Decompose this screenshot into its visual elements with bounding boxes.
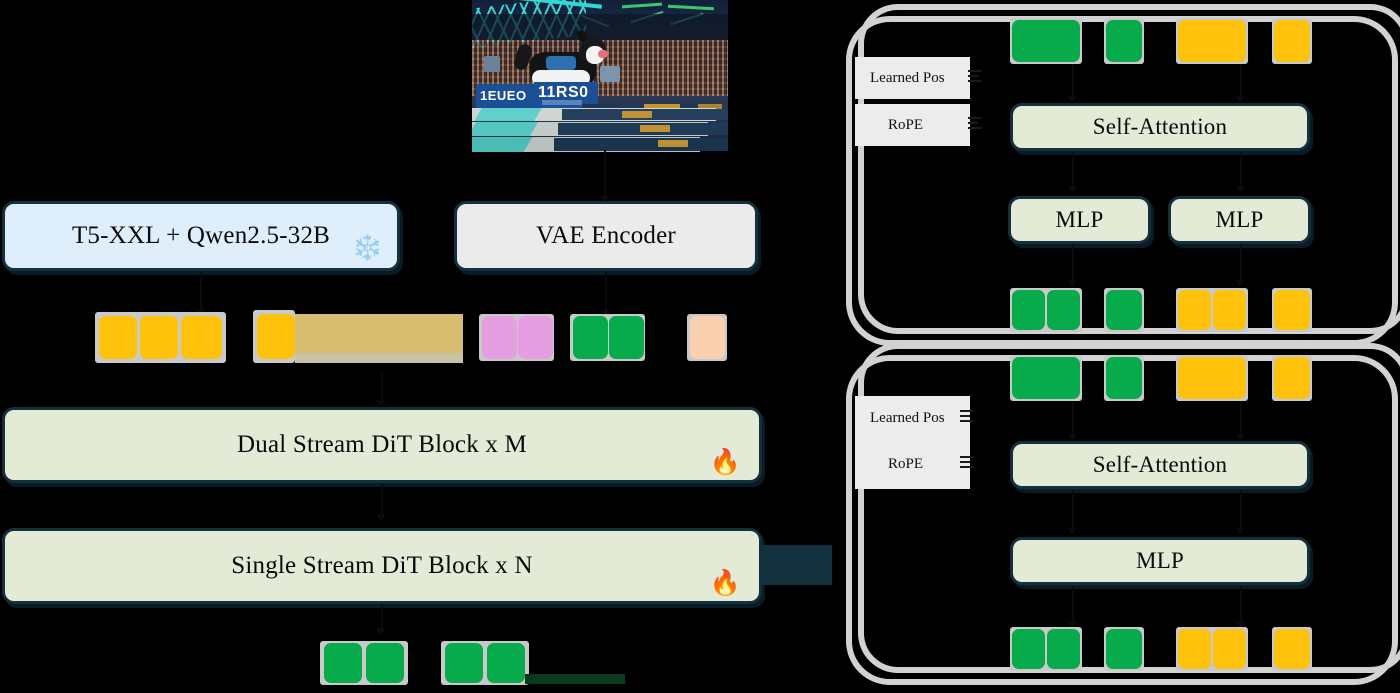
detail1-output-token-yellow-3[interactable] xyxy=(1274,290,1310,330)
single-stream-dit-label: Single Stream DiT Block x N xyxy=(231,552,532,580)
detail2-mlp-box[interactable]: MLP xyxy=(1010,537,1310,585)
detail2-connector-sa-to-mlp-right xyxy=(1240,490,1242,530)
detail1-output-token-green-2[interactable] xyxy=(1047,290,1080,330)
detail2-output-token-yellow-1[interactable] xyxy=(1178,629,1211,669)
detail2-output-token-yellow-2[interactable] xyxy=(1213,629,1246,669)
detail2-arrow-in-left xyxy=(1067,434,1077,441)
token-video-latent-1[interactable] xyxy=(573,316,608,359)
detail2-input-token-green-single[interactable] xyxy=(1106,357,1142,399)
detail1-output-token-green-3[interactable] xyxy=(1106,290,1142,330)
detail1-output-token-green-1[interactable] xyxy=(1012,290,1045,330)
detail1-self-attention-label: Self-Attention xyxy=(1093,114,1227,140)
detail1-connector-sa-to-mlp-right xyxy=(1240,152,1242,188)
rope-tick-icon xyxy=(968,117,982,132)
detail2-self-attention-label: Self-Attention xyxy=(1093,452,1227,478)
detail1-input-token-yellow-pair[interactable] xyxy=(1178,20,1246,62)
rope-label-2: RoPE xyxy=(888,456,923,473)
output-token-3[interactable] xyxy=(445,643,483,683)
detail2-connector-in-left xyxy=(1072,401,1074,437)
token-noise[interactable] xyxy=(690,316,725,359)
output-token-1[interactable] xyxy=(324,643,362,683)
dual-stream-dit-block[interactable]: Dual Stream DiT Block x M 🔥 xyxy=(2,407,762,483)
detail1-arrow-mlp-out-left xyxy=(1067,280,1077,287)
output-token-tail xyxy=(525,674,625,684)
detail1-connector-in-right xyxy=(1240,64,1242,100)
arrow-dual-to-single xyxy=(376,514,386,521)
connector-video-to-vae xyxy=(604,150,606,200)
detail1-mlp-left-box[interactable]: MLP xyxy=(1008,196,1151,244)
detail2-arrow-in-right xyxy=(1235,434,1245,441)
detail2-connector-mlp-out-left xyxy=(1072,586,1074,624)
detail2-mlp-label: MLP xyxy=(1136,548,1184,574)
detail2-arrow-sa-to-mlp-left xyxy=(1067,528,1077,535)
detail2-arrow-sa-to-mlp-right xyxy=(1235,528,1245,535)
arrow-tokens-to-dual xyxy=(376,400,386,407)
detail1-output-token-yellow-1[interactable] xyxy=(1178,290,1211,330)
output-latent-tokens xyxy=(0,610,780,693)
detail2-self-attention-box[interactable]: Self-Attention xyxy=(1010,441,1310,489)
video-frame-stack xyxy=(472,108,728,154)
token-reference-2[interactable] xyxy=(518,316,553,359)
detail1-mlp-right-label: MLP xyxy=(1216,207,1264,233)
detail2-connector-in-right xyxy=(1240,401,1242,437)
detail1-output-token-yellow-2[interactable] xyxy=(1213,290,1246,330)
figure-canvas: 1EUEO 11RS0 T5-XXL + Qwen2.5-32B ❄️ xyxy=(0,0,1400,693)
detail2-connector-sa-to-mlp-left xyxy=(1072,490,1074,530)
token-padding-bar-shadow xyxy=(295,353,463,363)
video-overlay-left-text: 1EUEO xyxy=(480,88,540,103)
snowflake-icon: ❄️ xyxy=(352,235,383,260)
detail1-input-token-green-pair[interactable] xyxy=(1012,20,1080,62)
vae-encoder-label: VAE Encoder xyxy=(536,222,676,250)
token-padding-bar[interactable] xyxy=(295,314,463,353)
learned-pos-tick-icon xyxy=(968,70,982,85)
detail2-output-token-yellow-3[interactable] xyxy=(1274,629,1310,669)
detail1-connector-in-left xyxy=(1072,64,1074,100)
token-video-latent-2[interactable] xyxy=(609,316,644,359)
detail2-output-token-green-2[interactable] xyxy=(1047,629,1080,669)
detail2-output-token-green-1[interactable] xyxy=(1012,629,1045,669)
token-text-pad[interactable] xyxy=(257,314,295,359)
fire-icon: 🔥 xyxy=(710,570,741,595)
learned-pos-label: Learned Pos xyxy=(870,70,945,87)
connector-single-stream-to-detail xyxy=(762,545,832,585)
detail1-self-attention-box[interactable]: Self-Attention xyxy=(1010,103,1310,151)
detail1-connector-mlp-out-left xyxy=(1072,245,1074,283)
learned-pos-tick-icon-2 xyxy=(960,410,974,425)
output-token-4[interactable] xyxy=(487,643,525,683)
detail1-connector-mlp-out-right xyxy=(1240,245,1242,283)
detail1-input-token-green-single[interactable] xyxy=(1106,20,1142,62)
conditioning-token-sequence xyxy=(0,300,780,380)
detail2-input-token-yellow-pair[interactable] xyxy=(1178,357,1246,399)
detail1-connector-sa-to-mlp-left xyxy=(1072,152,1074,188)
detail1-arrow-sa-to-mlp-right xyxy=(1235,186,1245,193)
rope-tick-icon-2 xyxy=(960,456,974,471)
detail1-arrow-in-left xyxy=(1067,96,1077,103)
detail1-mlp-left-label: MLP xyxy=(1056,207,1104,233)
token-text-1[interactable] xyxy=(99,316,137,359)
detail1-arrow-in-right xyxy=(1235,96,1245,103)
token-reference-1[interactable] xyxy=(482,316,517,359)
detail1-arrow-mlp-out-right xyxy=(1235,280,1245,287)
learned-pos-label-2: Learned Pos xyxy=(870,410,945,427)
rope-label: RoPE xyxy=(888,117,923,134)
connector-dual-to-single xyxy=(381,484,383,518)
single-stream-dit-block[interactable]: Single Stream DiT Block x N 🔥 xyxy=(2,528,762,604)
text-encoder-box[interactable]: T5-XXL + Qwen2.5-32B ❄️ xyxy=(2,201,400,271)
vae-encoder-box[interactable]: VAE Encoder xyxy=(454,201,758,271)
fire-icon: 🔥 xyxy=(710,449,741,474)
detail2-connector-mlp-out-right xyxy=(1240,586,1242,624)
token-text-3[interactable] xyxy=(181,316,222,359)
dual-stream-dit-label: Dual Stream DiT Block x M xyxy=(237,431,527,459)
detail2-output-token-green-3[interactable] xyxy=(1106,629,1142,669)
detail1-input-token-yellow-single[interactable] xyxy=(1274,20,1310,62)
detail1-arrow-sa-to-mlp-left xyxy=(1067,186,1077,193)
token-text-2[interactable] xyxy=(140,316,178,359)
output-token-2[interactable] xyxy=(366,643,404,683)
detail2-input-token-yellow-single[interactable] xyxy=(1274,357,1310,399)
detail2-input-token-green-pair[interactable] xyxy=(1012,357,1080,399)
text-encoder-label: T5-XXL + Qwen2.5-32B xyxy=(72,222,330,250)
detail1-mlp-right-box[interactable]: MLP xyxy=(1168,196,1311,244)
